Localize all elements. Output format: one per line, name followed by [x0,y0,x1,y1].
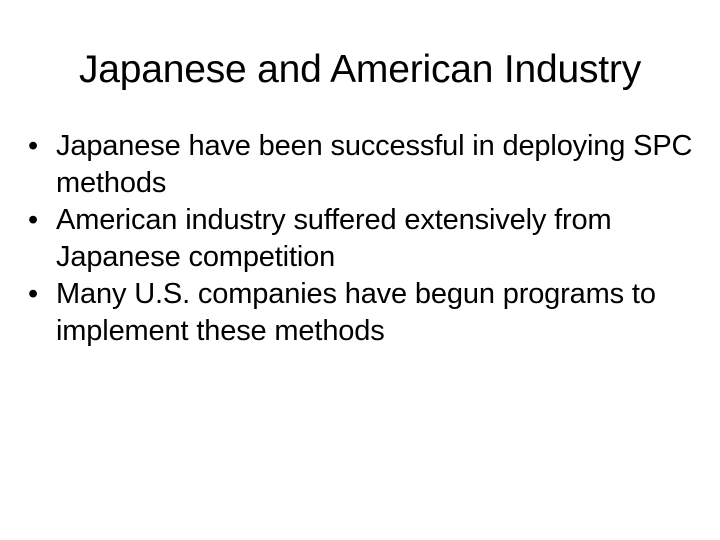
presentation-slide: Japanese and American Industry • Japanes… [0,0,720,540]
list-item: • Japanese have been successful in deplo… [22,128,698,202]
list-item-text: Many U.S. companies have begun programs … [56,276,668,350]
list-item-text: Japanese have been successful in deployi… [56,128,698,202]
list-item: • Many U.S. companies have begun program… [22,276,698,350]
bullet-list: • Japanese have been successful in deplo… [22,128,698,350]
page-title: Japanese and American Industry [0,48,720,92]
bullet-dot-icon: • [28,202,48,239]
list-item: • American industry suffered extensively… [22,202,698,276]
bullet-dot-icon: • [28,276,48,313]
list-item-text: American industry suffered extensively f… [56,202,636,276]
bullet-dot-icon: • [28,128,48,165]
